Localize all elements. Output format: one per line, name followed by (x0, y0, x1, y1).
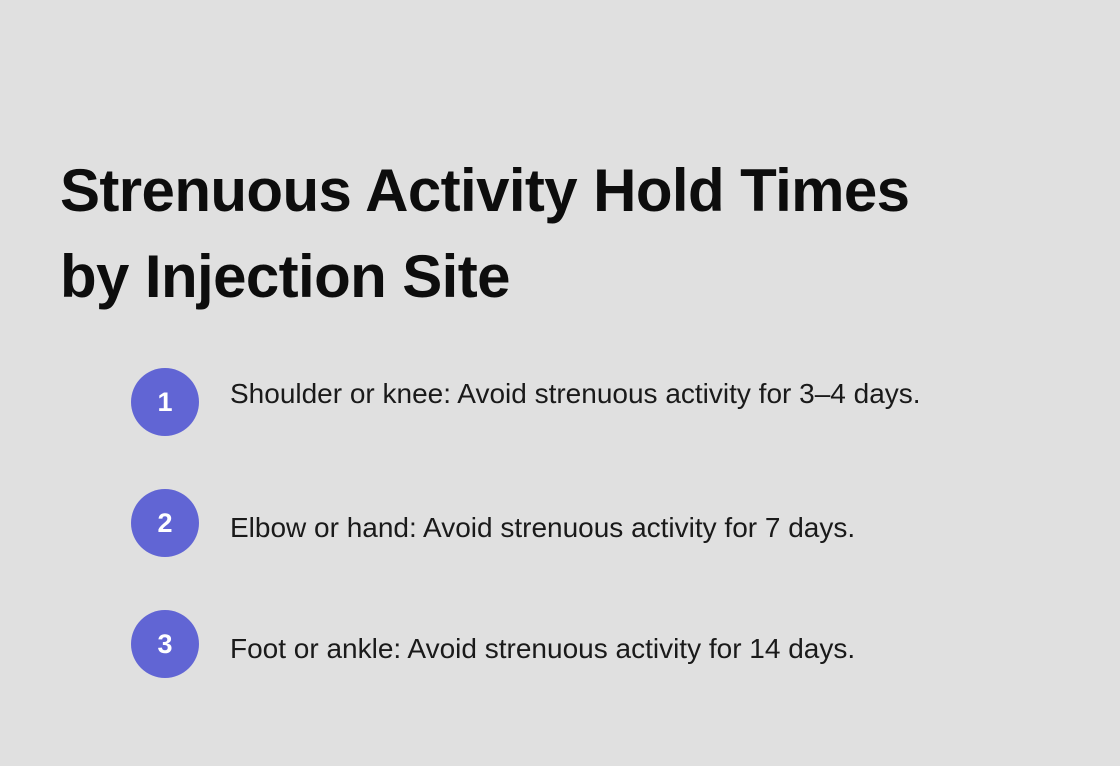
step-text: Foot or ankle: Avoid strenuous activity … (230, 610, 980, 670)
step-number-badge: 1 (131, 368, 199, 436)
page-title: Strenuous Activity Hold Times by Injecti… (60, 148, 1045, 320)
step-text: Shoulder or knee: Avoid strenuous activi… (230, 368, 980, 415)
numbered-steps-list: 1 Shoulder or knee: Avoid strenuous acti… (131, 368, 1031, 678)
step-text: Elbow or hand: Avoid strenuous activity … (230, 489, 980, 549)
list-item: 1 Shoulder or knee: Avoid strenuous acti… (131, 368, 1031, 436)
slide-canvas: Strenuous Activity Hold Times by Injecti… (0, 0, 1120, 766)
list-item: 3 Foot or ankle: Avoid strenuous activit… (131, 610, 1031, 678)
step-number-badge: 2 (131, 489, 199, 557)
list-item: 2 Elbow or hand: Avoid strenuous activit… (131, 489, 1031, 557)
step-number-badge: 3 (131, 610, 199, 678)
